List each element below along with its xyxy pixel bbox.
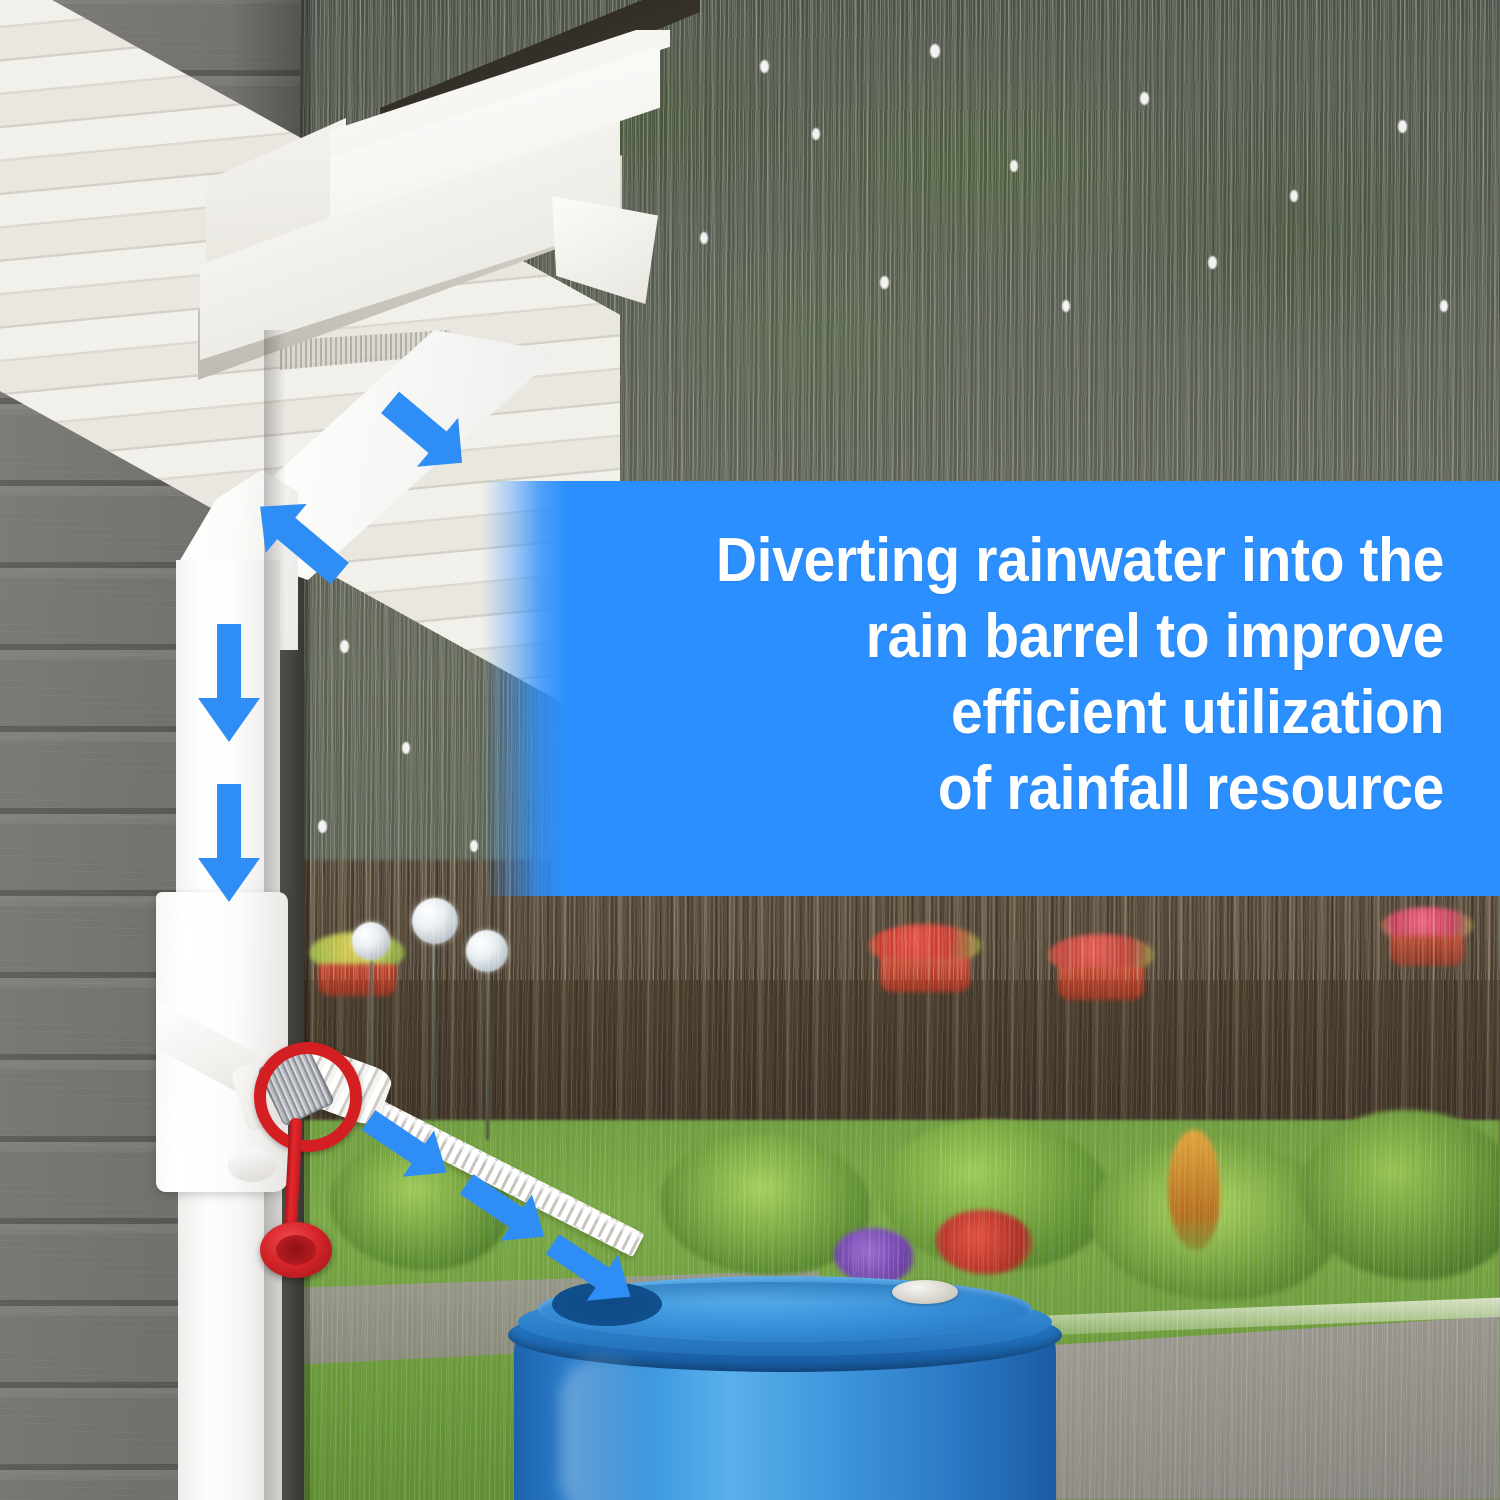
raindrop (1062, 300, 1070, 312)
callout-text: Diverting rainwater into the rain barrel… (625, 523, 1444, 827)
raindrop (470, 840, 478, 852)
raindrop (1440, 300, 1448, 312)
flow-arrow-downspout-1 (190, 620, 268, 746)
callout-line-2: rain barrel to improve (625, 599, 1444, 675)
raindrop (812, 128, 820, 140)
hanging-basket (1058, 940, 1144, 1000)
callout-line-1: Diverting rainwater into the (625, 523, 1444, 599)
flow-arrow-gutter-1 (358, 370, 488, 490)
hanging-basket (880, 930, 970, 992)
garden-globe (466, 930, 508, 972)
raindrop (760, 60, 769, 73)
garden-canna (1168, 1130, 1220, 1250)
product-illustration: Diverting rainwater into the rain barrel… (0, 0, 1500, 1500)
flow-arrow-downspout-2 (190, 780, 268, 906)
raindrop (1140, 92, 1149, 105)
garden-globe (412, 898, 458, 944)
flow-arrow-hose-3 (534, 1222, 654, 1322)
barrel-bung-cap[interactable] (892, 1280, 958, 1304)
raindrop (402, 742, 410, 754)
callout-line-3: efficient utilization (625, 675, 1444, 751)
raindrop (318, 820, 327, 833)
diverter-handle-grip[interactable] (260, 1222, 332, 1278)
callout-line-4: of rainfall resource (625, 751, 1444, 827)
raindrop (1398, 120, 1407, 133)
globe-stake (486, 970, 489, 1140)
flow-arrow-gutter-2 (230, 480, 370, 600)
raindrop (1208, 256, 1217, 269)
diverter-pivot-nub (228, 1148, 276, 1182)
garden-globe (352, 922, 390, 960)
callout-panel: Diverting rainwater into the rain barrel… (482, 481, 1500, 896)
raindrop (340, 640, 349, 653)
downspout-lower-section (178, 1140, 282, 1500)
raindrop (880, 276, 889, 289)
barrel-highlight (560, 1358, 652, 1500)
raindrop (1290, 190, 1298, 202)
hanging-basket (1390, 912, 1464, 966)
raindrop (930, 44, 940, 58)
globe-stake (432, 940, 435, 1120)
raindrop (1010, 160, 1018, 172)
raindrop (700, 232, 708, 244)
